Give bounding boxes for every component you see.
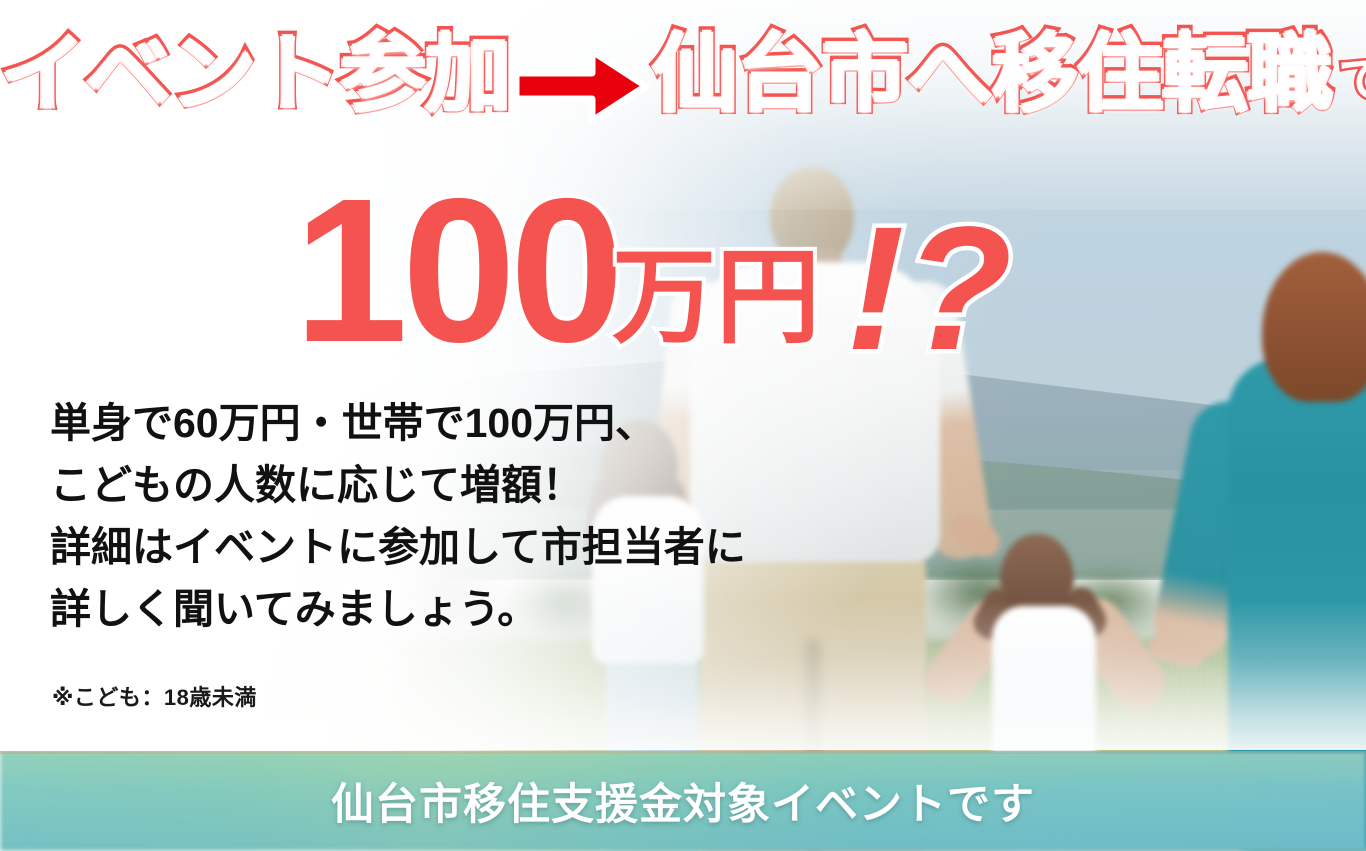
body-line: こどもの人数に応じて増額！ (50, 454, 746, 516)
headline: イベント参加 仙台市へ移住転職で (0, 30, 1366, 141)
headline-segment-1: イベント参加 (0, 30, 510, 116)
body-line: 単身で60万円・世帯で100万円、 (50, 392, 746, 454)
hero-amount-number: 100 (294, 168, 618, 373)
banner-text: 仙台市移住支援金対象イベントです (0, 751, 1366, 851)
body-line: 詳細はイベントに参加して市担当者に (50, 516, 746, 578)
headline-suffix: で (1338, 55, 1366, 107)
bottom-banner: 仙台市移住支援金対象イベントです (0, 751, 1366, 851)
headline-segment-2: 仙台市へ移住転職 (652, 30, 1332, 116)
hero-amount-emphasis: !? (846, 201, 1012, 377)
right-arrow-icon (510, 43, 652, 129)
hero-amount-unit: 万円 (612, 246, 820, 350)
hero-amount: 100万円!? (0, 168, 1366, 373)
body-copy: 単身で60万円・世帯で100万円、 こどもの人数に応じて増額！ 詳細はイベントに… (50, 392, 746, 640)
body-line: 詳しく聞いてみましょう。 (50, 578, 746, 640)
promo-poster: イベント参加 仙台市へ移住転職で 100万円!? 単身で60万円・世帯で100万… (0, 0, 1366, 851)
footnote: ※こども：18歳未満 (52, 680, 257, 712)
